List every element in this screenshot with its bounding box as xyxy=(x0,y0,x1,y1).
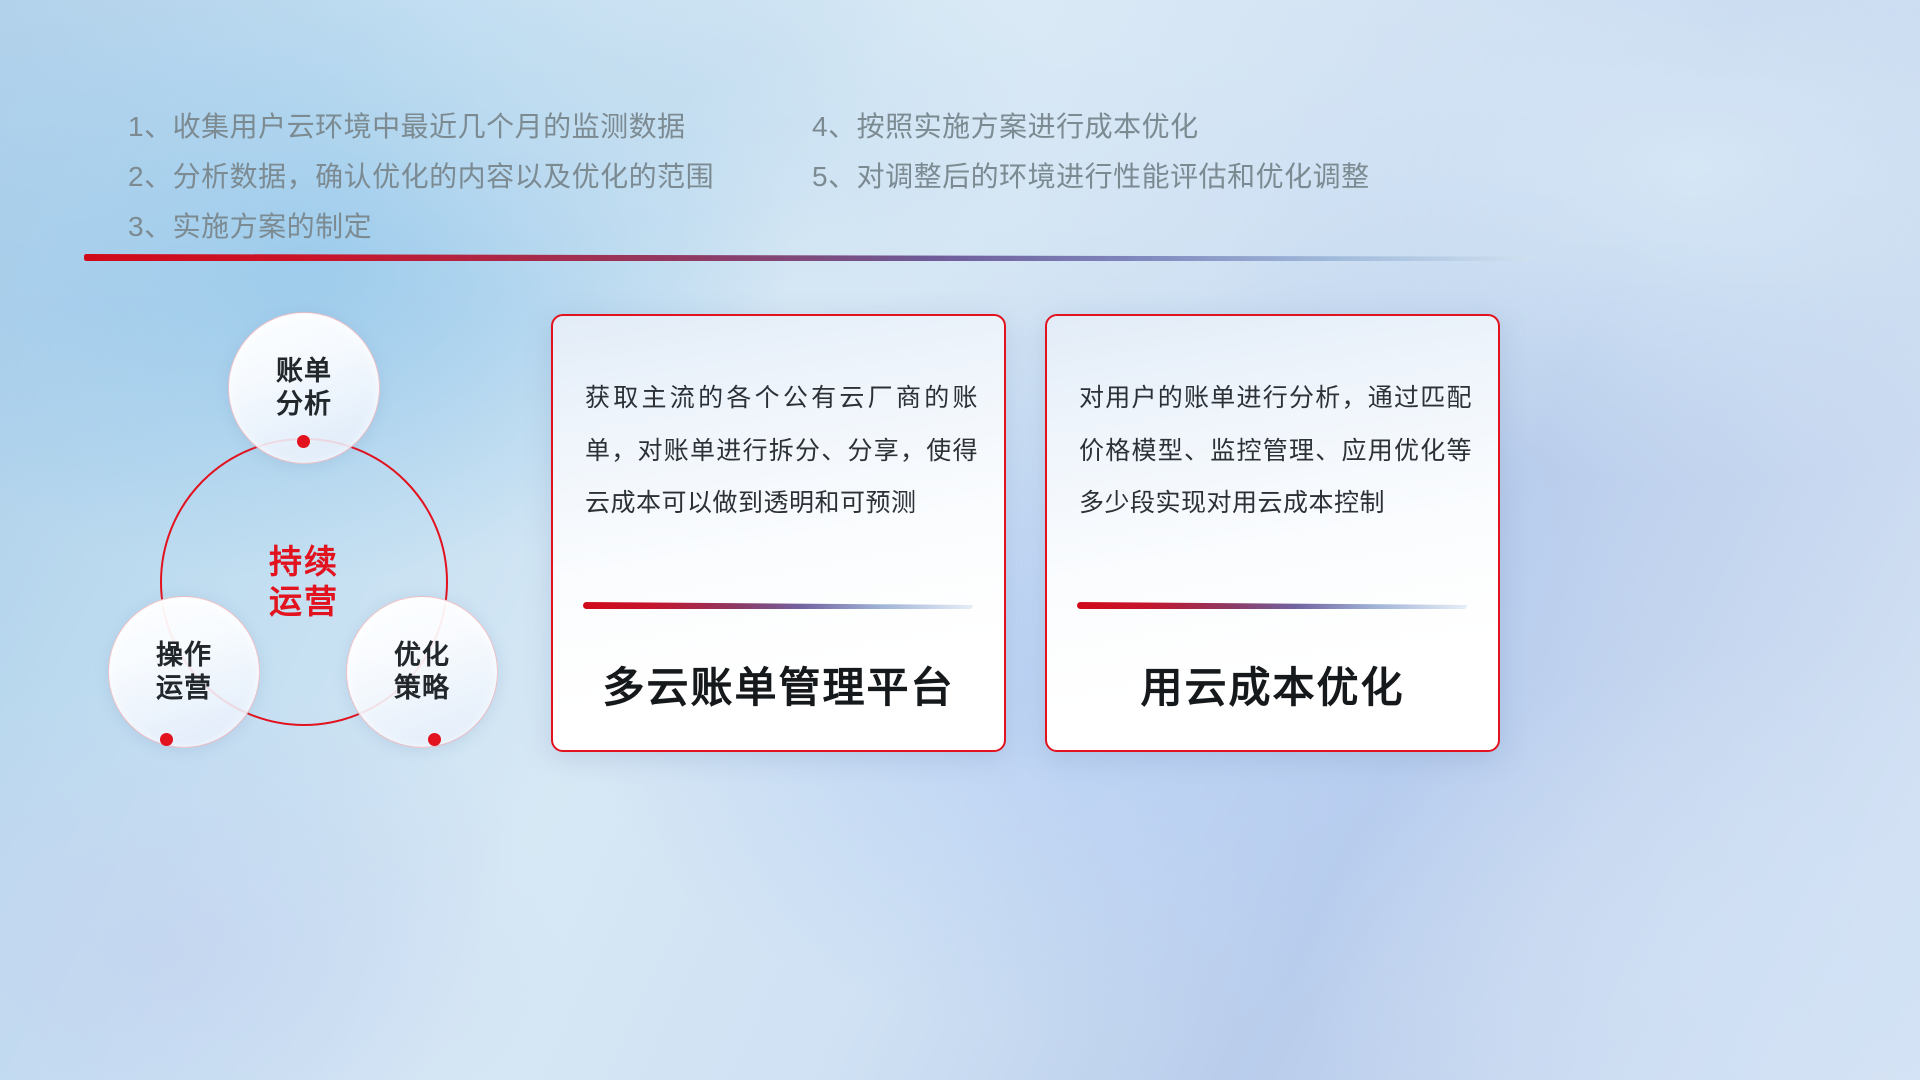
card-bill-platform-rule xyxy=(583,602,973,609)
process-step-3: 3、实施方案的制定 xyxy=(128,205,372,245)
card-cost-optimization-title: 用云成本优化 xyxy=(1047,654,1498,715)
card-cost-optimization-rule xyxy=(1077,602,1467,609)
ring-node-dot-right xyxy=(428,733,441,746)
process-step-1: 1、收集用户云环境中最近几个月的监测数据 xyxy=(128,105,686,145)
ring-node-dot-top xyxy=(297,435,310,448)
venn-diagram: 持续运营 账单分析 操作运营 优化策略 xyxy=(88,296,518,766)
card-cost-optimization-body: 对用户的账单进行分析，通过匹配价格模型、监控管理、应用优化等多少段实现对用云成本… xyxy=(1079,372,1472,530)
ring-node-dot-left xyxy=(160,733,173,746)
process-step-2: 2、分析数据，确认优化的内容以及优化的范围 xyxy=(128,155,714,195)
process-step-list: 1、收集用户云环境中最近几个月的监测数据 2、分析数据，确认优化的内容以及优化的… xyxy=(0,0,1920,250)
card-bill-platform[interactable]: 获取主流的各个公有云厂商的账单，对账单进行拆分、分享，使得云成本可以做到透明和可… xyxy=(551,314,1006,752)
process-step-5: 5、对调整后的环境进行性能评估和优化调整 xyxy=(812,155,1370,195)
card-bill-platform-title: 多云账单管理平台 xyxy=(553,654,1004,715)
process-step-4: 4、按照实施方案进行成本优化 xyxy=(812,105,1199,145)
venn-bubble-optimization-strategy[interactable]: 优化策略 xyxy=(346,596,498,748)
card-cost-optimization[interactable]: 对用户的账单进行分析，通过匹配价格模型、监控管理、应用优化等多少段实现对用云成本… xyxy=(1045,314,1500,752)
venn-bubble-operations[interactable]: 操作运营 xyxy=(108,596,260,748)
card-bill-platform-body: 获取主流的各个公有云厂商的账单，对账单进行拆分、分享，使得云成本可以做到透明和可… xyxy=(585,372,978,530)
